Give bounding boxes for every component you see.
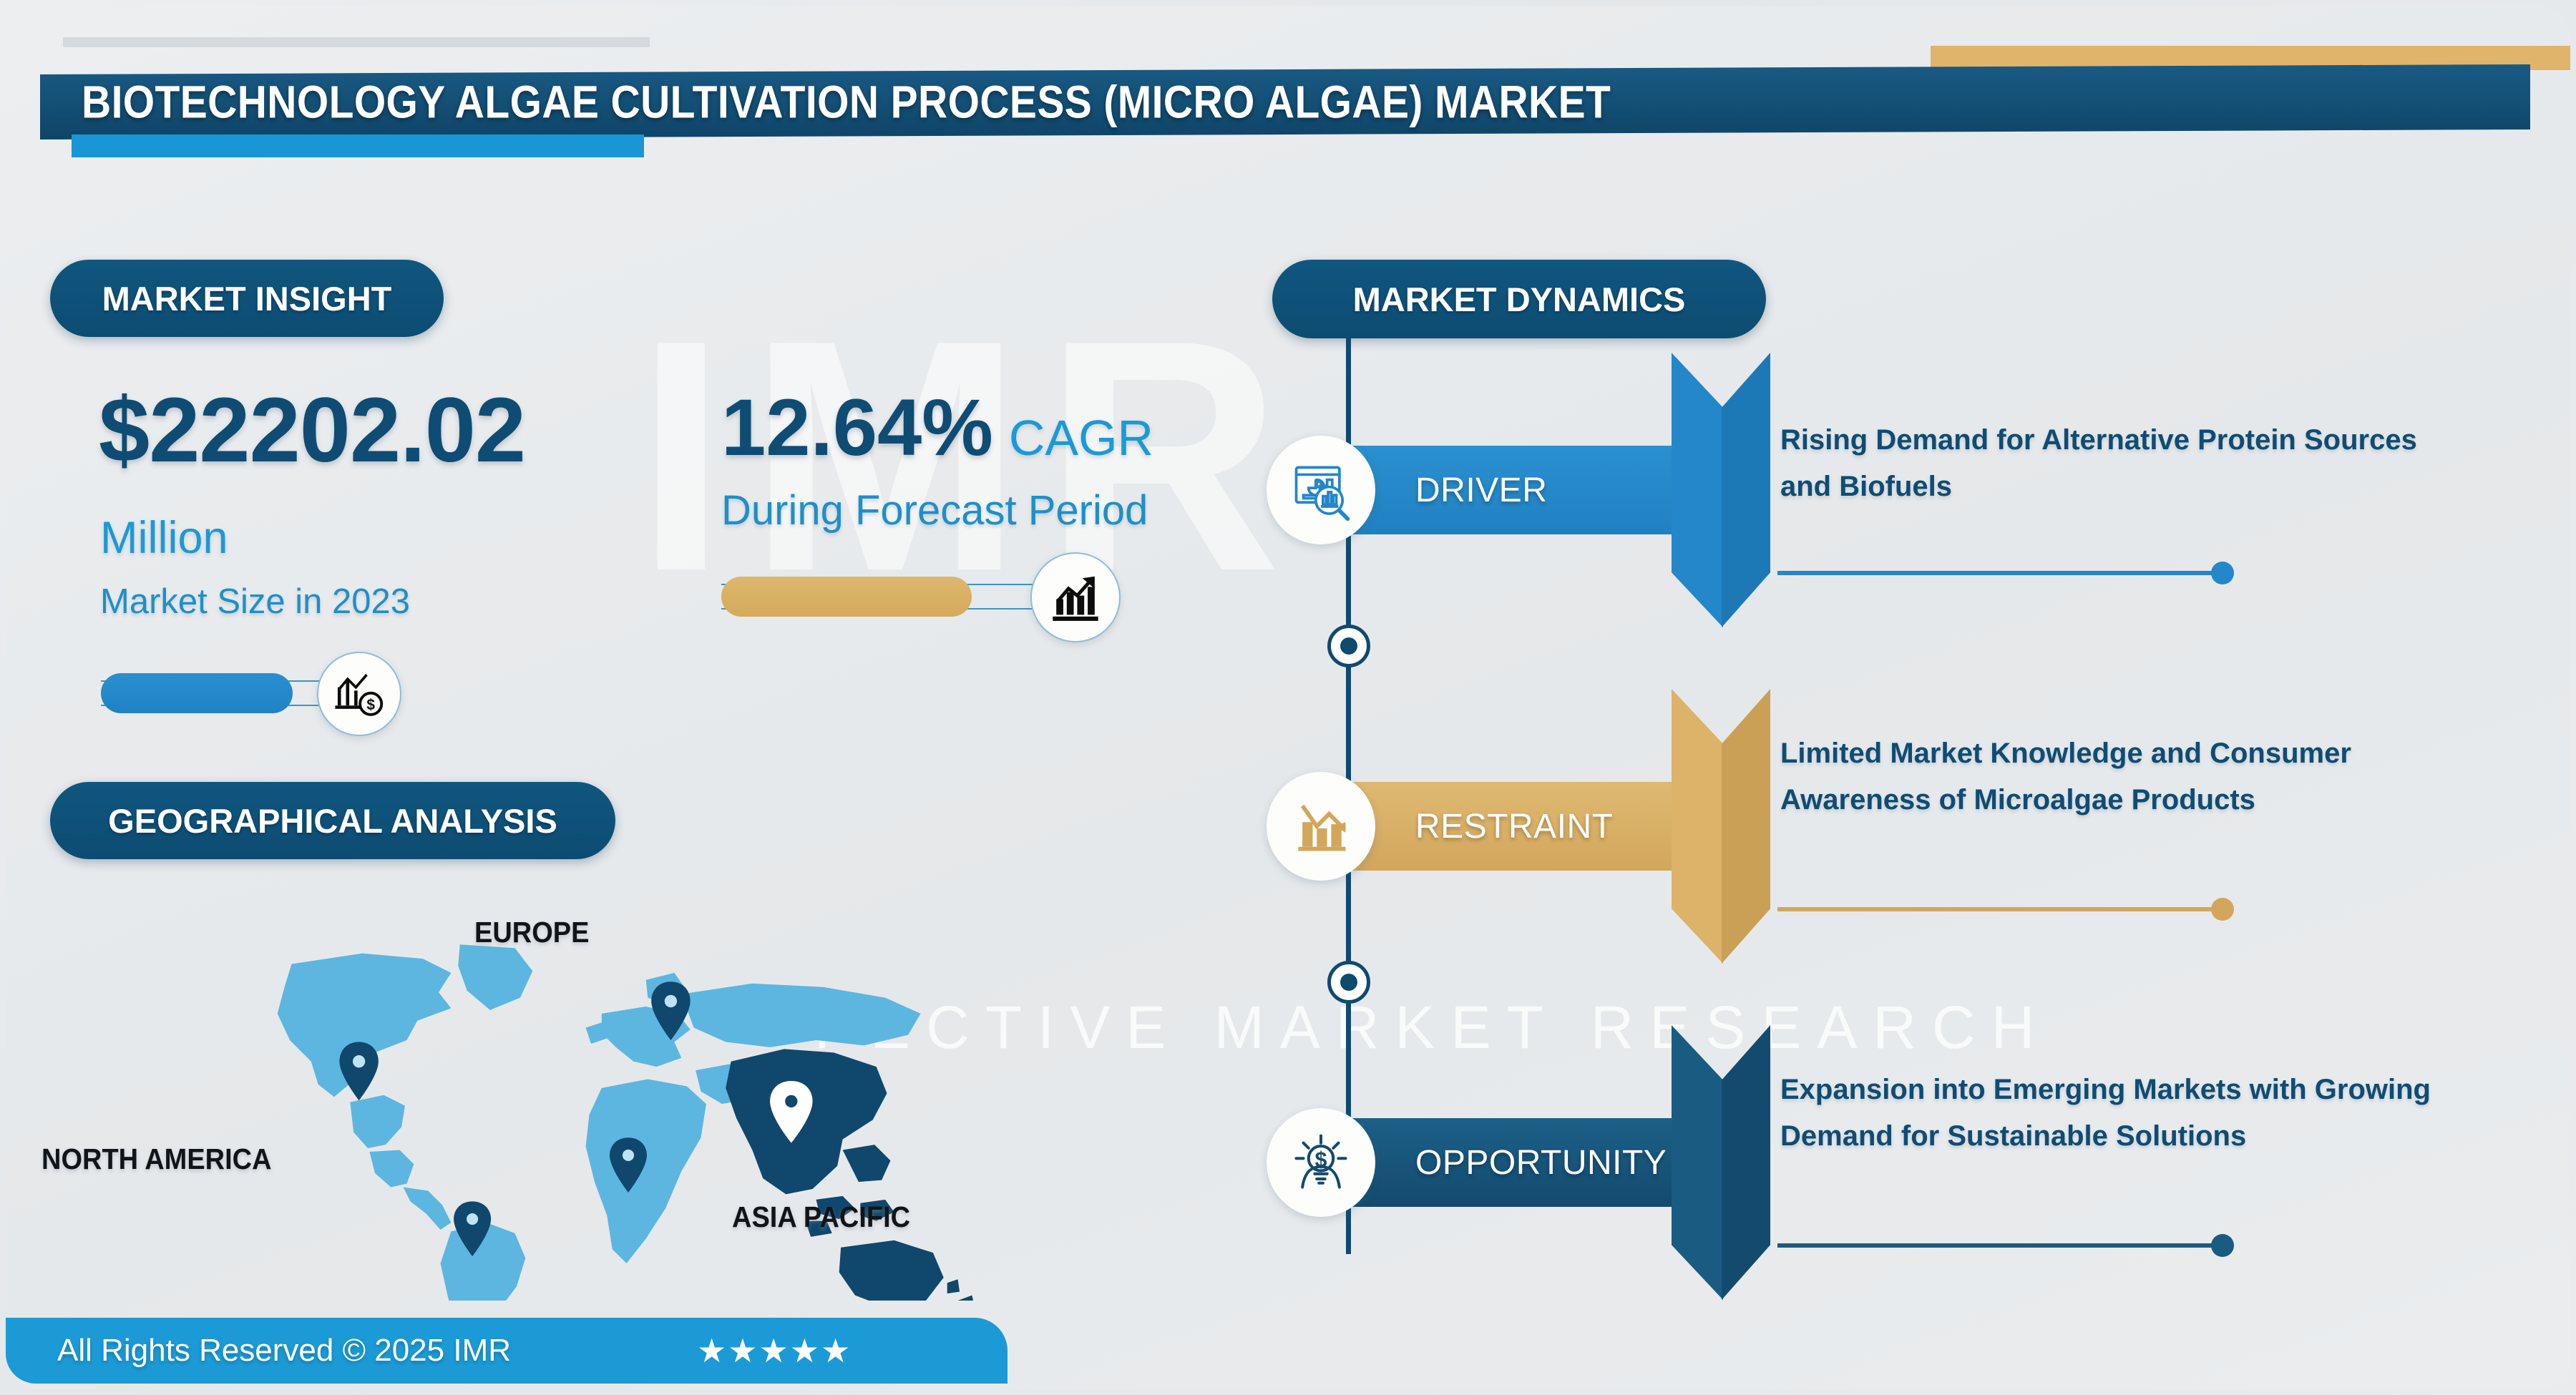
driver-end-dot <box>2211 562 2234 584</box>
chevron-right-face <box>1722 689 1770 964</box>
growth-arrow-chart-icon <box>1030 552 1121 642</box>
page-title: BIOTECHNOLOGY ALGAE CULTIVATION PROCESS … <box>82 76 1611 129</box>
rating-stars: ★★★★★ <box>697 1331 852 1370</box>
opportunity-chevron <box>1672 1025 1770 1300</box>
chevron-right-face <box>1722 1025 1770 1300</box>
market-size-value: $22202.02 <box>99 378 525 483</box>
world-map-svg <box>170 929 1086 1301</box>
gauge-fill <box>101 673 293 713</box>
market-size-unit: Million <box>100 512 228 564</box>
market-insight-pill-label: MARKET INSIGHT <box>102 279 392 318</box>
restraint-description: Limited Market Knowledge and Consumer Aw… <box>1780 730 2467 823</box>
header-shadow-left <box>63 37 650 47</box>
driver-chevron <box>1672 353 1770 627</box>
opportunity-label: OPPORTUNITY <box>1415 1143 1667 1183</box>
gauge-fill <box>721 577 972 617</box>
chevron-left-face <box>1672 689 1723 964</box>
bar-chart-dollar-icon: $ <box>317 652 401 736</box>
map-label-asia-pacific: ASIA PACIFIC <box>732 1201 910 1234</box>
market-dynamics-pill-label: MARKET DYNAMICS <box>1353 280 1686 319</box>
market-insight-pill: MARKET INSIGHT <box>50 260 444 337</box>
dynamics-node-2 <box>1327 961 1370 1004</box>
lightbulb-dollar-icon: $ <box>1267 1108 1375 1217</box>
declining-bar-chart-icon <box>1267 772 1375 881</box>
cagr-value: 12.64% <box>721 381 993 474</box>
chevron-left-face <box>1672 353 1723 627</box>
restraint-underline <box>1777 907 2221 911</box>
driver-underline <box>1777 571 2221 575</box>
page-frame: IMR PECTIVE MARKET RESEARCH BIOTECHNOLOG… <box>6 6 2570 1389</box>
infographic-canvas: IMR PECTIVE MARKET RESEARCH BIOTECHNOLOG… <box>0 0 2576 1395</box>
world-map: NORTH AMERICA SOUTH AMERICA EUROPE MIDDL… <box>170 929 1086 1301</box>
market-size-caption: Market Size in 2023 <box>100 582 410 622</box>
dynamics-node-1 <box>1327 625 1370 667</box>
driver-label: DRIVER <box>1415 471 1547 510</box>
svg-text:$: $ <box>366 697 375 713</box>
chevron-left-face <box>1672 1025 1723 1300</box>
footer-bar: All Rights Reserved © 2025 IMR ★★★★★ <box>6 1318 1008 1384</box>
map-label-north-america: NORTH AMERICA <box>42 1143 272 1176</box>
cagr-caption: During Forecast Period <box>721 486 1148 534</box>
cagr-row: 12.64% CAGR <box>721 381 1153 474</box>
opportunity-end-dot <box>2211 1234 2234 1257</box>
cagr-label: CAGR <box>1009 409 1153 466</box>
svg-text:$: $ <box>1315 1148 1327 1172</box>
footer-copyright: All Rights Reserved © 2025 IMR <box>57 1333 511 1369</box>
geographical-analysis-pill-label: GEOGRAPHICAL ANALYSIS <box>108 801 557 841</box>
opportunity-underline <box>1777 1243 2221 1248</box>
restraint-chevron <box>1672 689 1770 964</box>
chevron-right-face <box>1722 353 1770 627</box>
opportunity-description: Expansion into Emerging Markets with Gro… <box>1780 1067 2467 1160</box>
map-highlight-asia-pacific[interactable] <box>726 1049 975 1301</box>
report-magnifier-icon <box>1267 436 1375 544</box>
map-label-europe: EUROPE <box>474 916 589 949</box>
header-blue-accent <box>72 134 644 157</box>
driver-description: Rising Demand for Alternative Protein So… <box>1780 417 2467 510</box>
market-dynamics-pill: MARKET DYNAMICS <box>1272 260 1766 338</box>
geographical-analysis-pill: GEOGRAPHICAL ANALYSIS <box>50 782 615 859</box>
header-bar: BIOTECHNOLOGY ALGAE CULTIVATION PROCESS … <box>40 64 2530 139</box>
restraint-label: RESTRAINT <box>1415 807 1614 846</box>
restraint-end-dot <box>2211 898 2234 921</box>
map-pin-north-america[interactable] <box>339 1042 378 1100</box>
